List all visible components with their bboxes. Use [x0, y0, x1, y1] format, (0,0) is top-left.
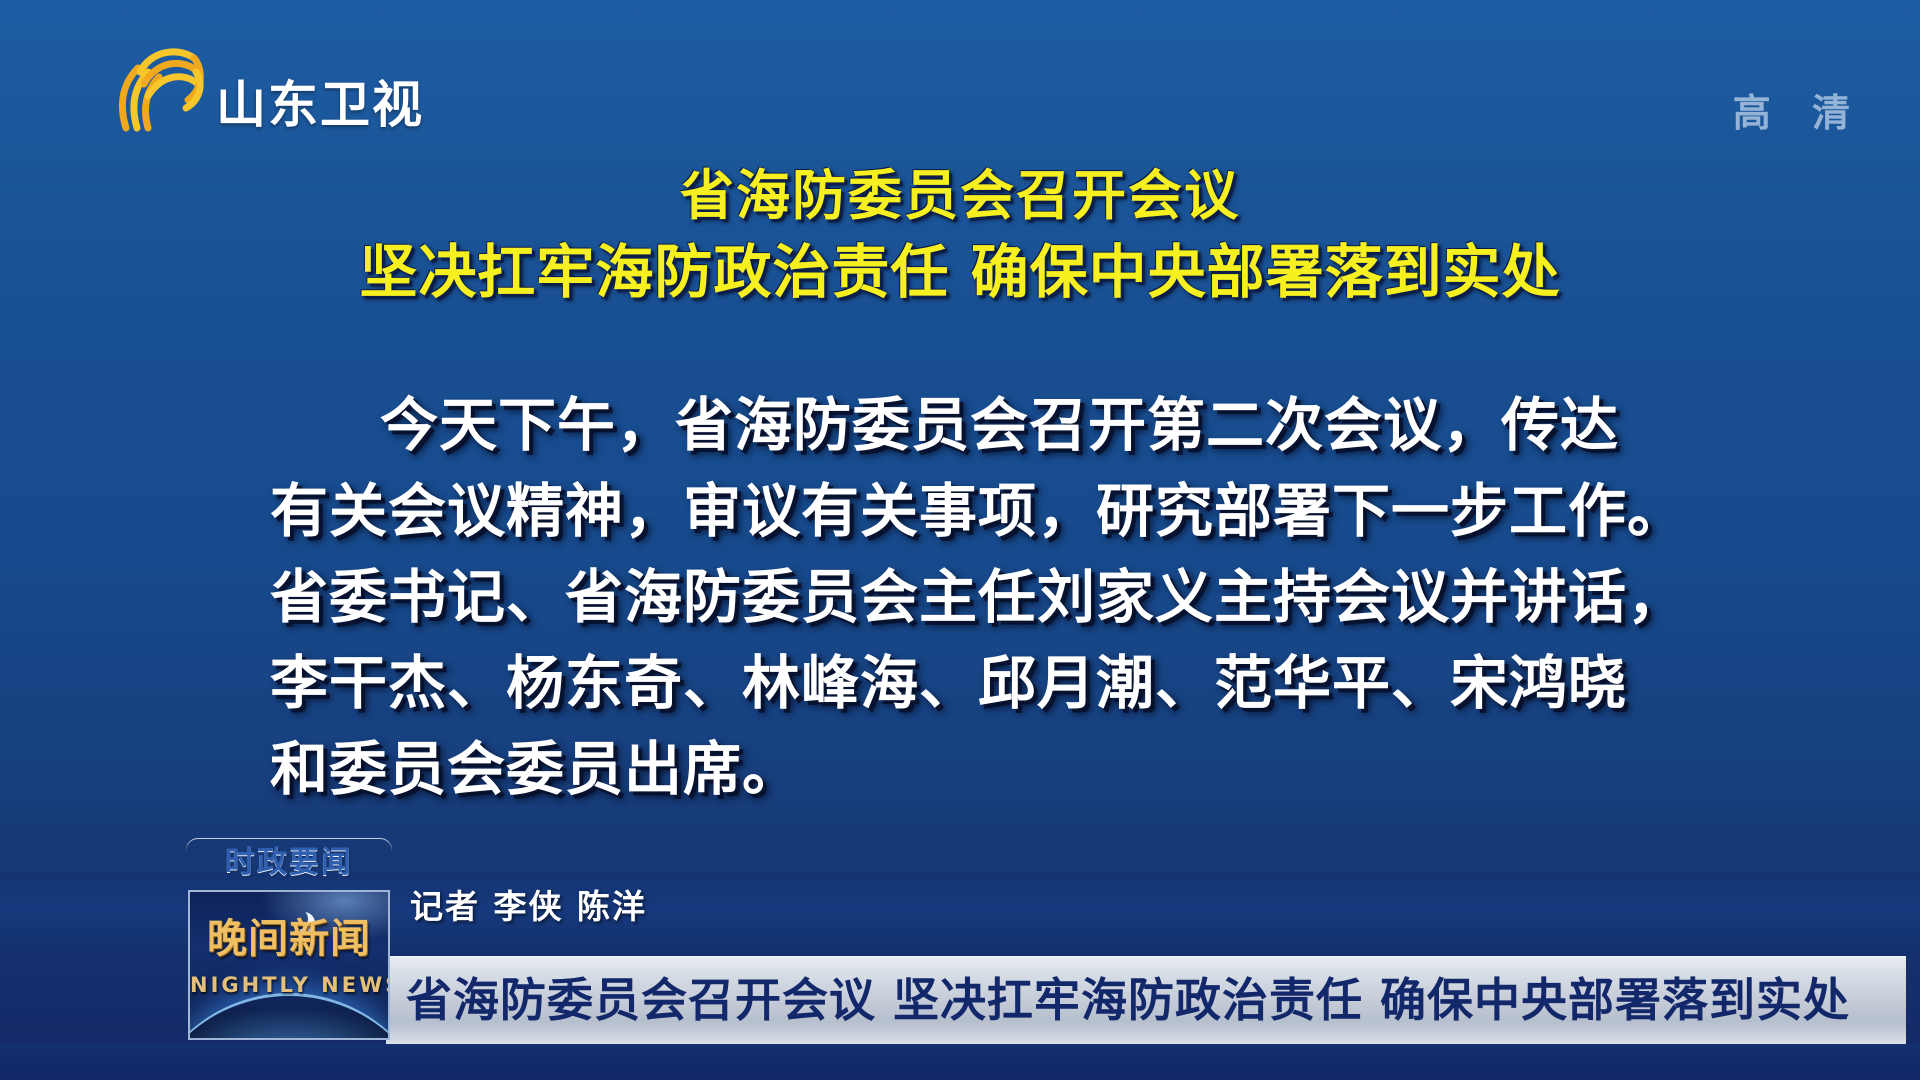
channel-logo: 山东卫视 — [104, 38, 424, 140]
body-line-5: 和委员会委员出席。 — [270, 726, 1670, 812]
channel-logo-text: 山东卫视 — [216, 78, 424, 132]
ticker-bar: 省海防委员会召开会议 坚决扛牢海防政治责任 确保中央部署落到实处 — [386, 956, 1906, 1048]
body-line-3: 省委书记、省海防委员会主任刘家义主持会议并讲话， — [270, 554, 1670, 640]
body-line-4: 李干杰、杨东奇、林峰海、邱月潮、范华平、宋鸿晓 — [270, 640, 1670, 726]
headline: 省海防委员会召开会议 坚决扛牢海防政治责任 确保中央部署落到实处 — [0, 160, 1920, 312]
lower-third: 记者 李侠 陈洋 省海防委员会召开会议 坚决扛牢海防政治责任 确保中央部署落到实… — [0, 820, 1920, 1080]
body-line-1: 今天下午，省海防委员会召开第二次会议，传达 — [270, 382, 1670, 468]
programme-title-cn: 晚间新闻 — [190, 916, 388, 962]
ticker-headline: 省海防委员会召开会议 坚决扛牢海防政治责任 确保中央部署落到实处 — [406, 966, 1850, 1034]
headline-line-2: 坚决扛牢海防政治责任 确保中央部署落到实处 — [0, 232, 1920, 312]
body-copy: 今天下午，省海防委员会召开第二次会议，传达 有关会议精神，审议有关事项，研究部署… — [270, 382, 1670, 812]
broadcast-frame: 山东卫视 高 清 省海防委员会召开会议 坚决扛牢海防政治责任 确保中央部署落到实… — [0, 0, 1920, 1080]
programme-badge: 时政要闻 晚间新闻 NIGHTLY NEWS. — [186, 838, 392, 1046]
globe-arc-graphic — [188, 993, 390, 1040]
programme-title-en: NIGHTLY NEWS. — [190, 972, 388, 998]
bottom-fill — [0, 1044, 1920, 1080]
hd-quality-badge: 高 清 — [1733, 92, 1864, 134]
programme-logo-panel: 晚间新闻 NIGHTLY NEWS. — [188, 890, 390, 1040]
swirl-emblem-icon — [104, 38, 212, 134]
programme-category-label: 时政要闻 — [186, 845, 392, 881]
headline-line-1: 省海防委员会召开会议 — [0, 160, 1920, 232]
reporter-credit: 记者 李侠 陈洋 — [410, 888, 647, 926]
body-line-2: 有关会议精神，审议有关事项，研究部署下一步工作。 — [270, 468, 1670, 554]
